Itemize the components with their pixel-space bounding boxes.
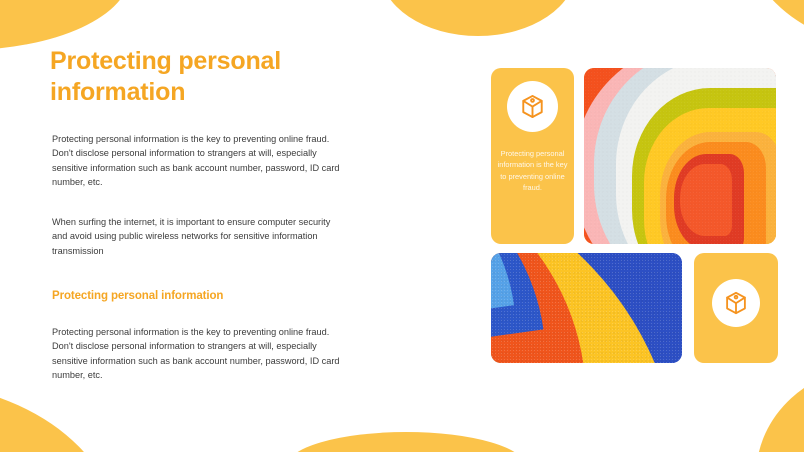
decorative-blob-top-left-2	[0, 0, 130, 50]
feature-card[interactable]: Protecting personal information is the k…	[491, 68, 574, 244]
arc-grain-overlay	[491, 253, 682, 363]
decorative-blob-top-center	[380, 0, 576, 36]
body-paragraph-2: When surfing the internet, it is importa…	[50, 215, 344, 258]
artwork-concentric-layers	[584, 68, 776, 244]
text-column: Protecting personal information Protecti…	[50, 46, 350, 122]
page-title: Protecting personal information	[50, 46, 350, 108]
feature-card-caption: Protecting personal information is the k…	[497, 148, 568, 193]
body-paragraph-1: Protecting personal information is the k…	[50, 132, 348, 190]
section-subtitle: Protecting personal information	[52, 290, 223, 302]
cube-box-icon	[519, 93, 546, 120]
decorative-blob-bottom-left	[0, 380, 116, 452]
cube-box-icon	[723, 290, 749, 316]
icon-badge	[507, 81, 558, 132]
icon-card[interactable]	[694, 253, 778, 363]
decorative-blob-bottom-center	[286, 432, 526, 452]
artwork-rainbow-arc	[491, 253, 682, 363]
slide-canvas: Protecting personal information Protecti…	[0, 0, 804, 452]
decorative-blob-top-right	[742, 0, 804, 48]
body-paragraph-3: Protecting personal information is the k…	[50, 325, 348, 383]
decorative-blob-bottom-right	[756, 366, 804, 452]
icon-badge-secondary	[712, 279, 760, 327]
art-grain-overlay	[584, 68, 776, 244]
